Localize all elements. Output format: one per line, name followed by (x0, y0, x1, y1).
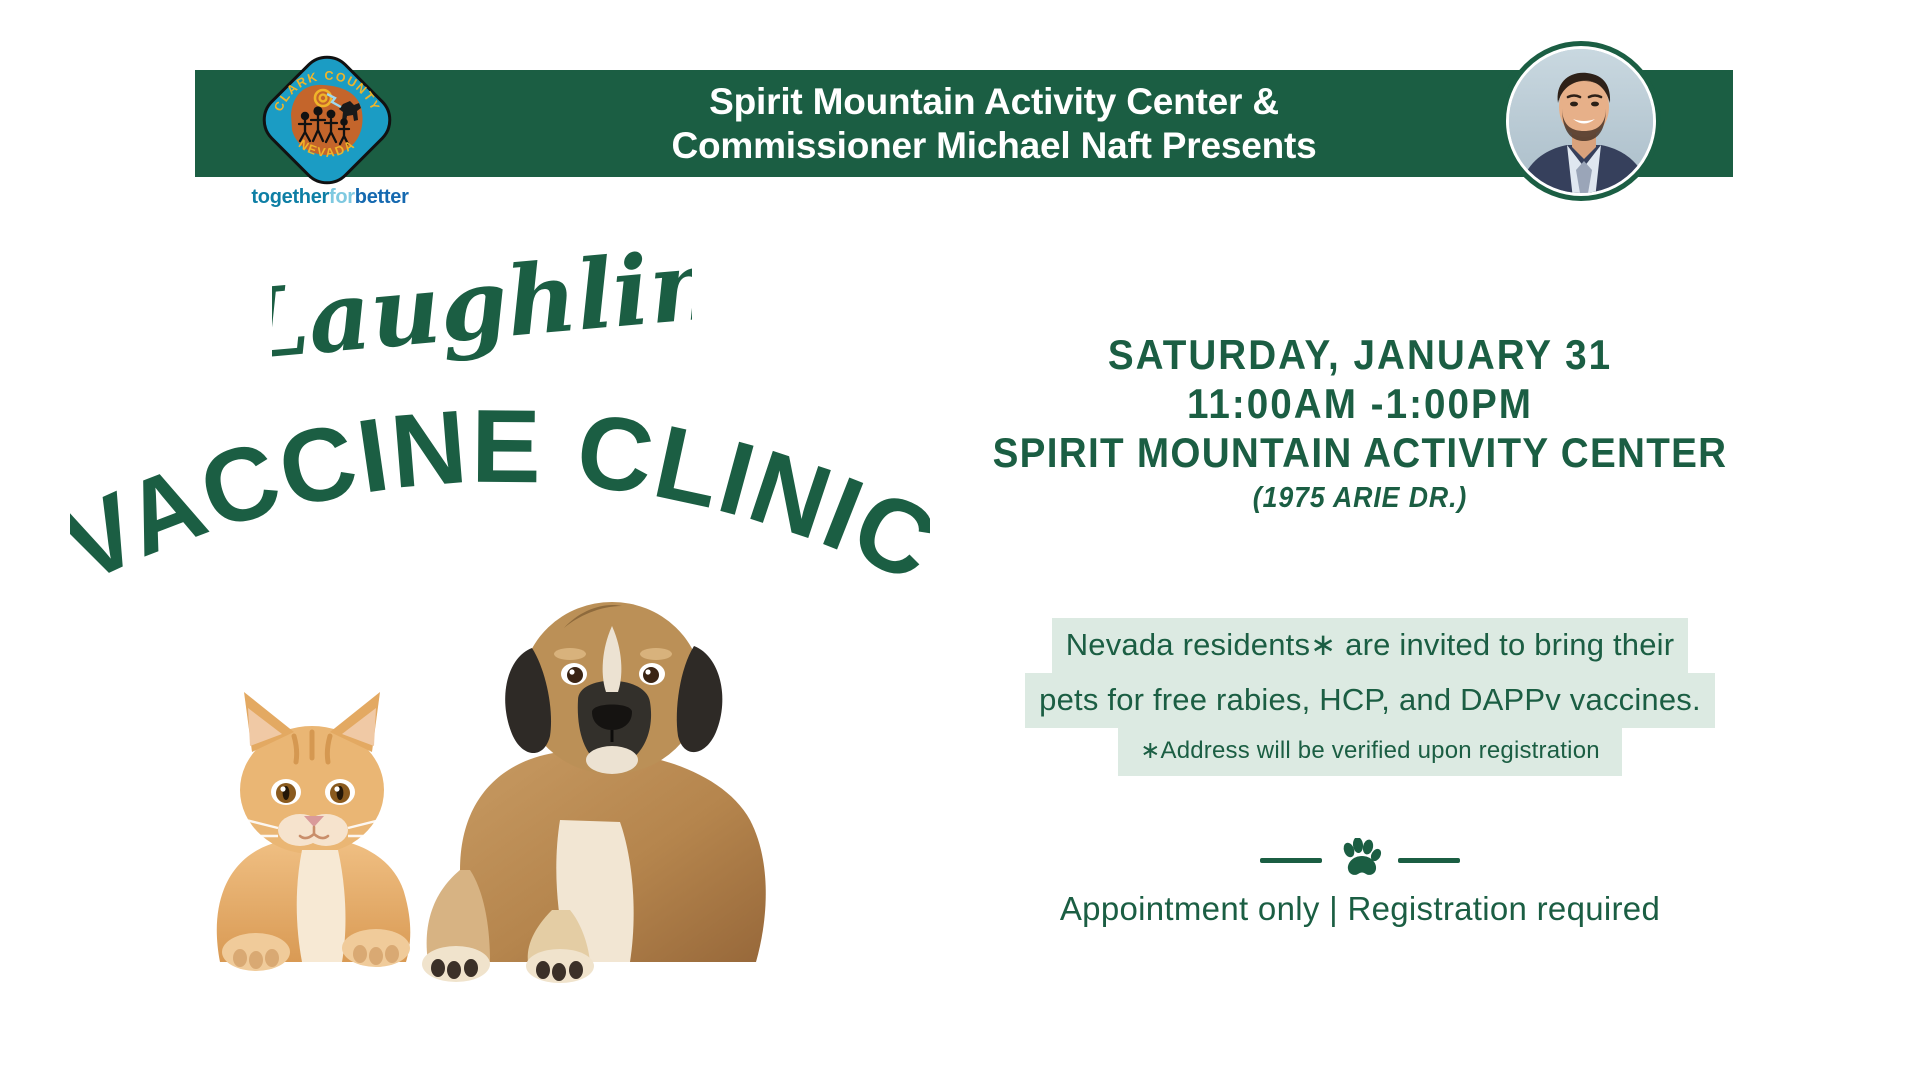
note-line-2: pets for free rabies, HCP, and DAPPv vac… (960, 673, 1780, 728)
event-venue: SPIRIT MOUNTAIN ACTIVITY CENTER (992, 428, 1728, 477)
together-for-better-tagline: togetherforbetter (245, 186, 415, 209)
svg-text:Laughlin: Laughlin (272, 248, 692, 368)
divider-rule-right (1398, 858, 1460, 863)
clark-county-seal-icon: CLARK COUNTY NEVADA (262, 48, 392, 188)
registration-note: Appointment only | Registration required (960, 890, 1760, 928)
paw-print-icon (1338, 838, 1382, 883)
event-address: (1975 ARIE DR.) (992, 482, 1728, 515)
event-date: SATURDAY, JANUARY 31 (992, 330, 1728, 379)
event-time: 11:00AM -1:00PM (992, 379, 1728, 428)
svg-text:VACCINE CLINIC: VACCINE CLINIC (70, 392, 930, 592)
event-details: SATURDAY, JANUARY 31 11:00AM -1:00PM SPI… (960, 330, 1760, 515)
tagline-part-for: for (329, 186, 355, 208)
cat-and-dog-photo (160, 570, 800, 990)
eligibility-note: Nevada residents∗ are invited to bring t… (960, 618, 1780, 776)
header-title: Spirit Mountain Activity Center & Commis… (671, 80, 1316, 167)
commissioner-headshot-avatar (1501, 41, 1661, 201)
note-footnote: ∗Address will be verified upon registrat… (960, 728, 1780, 776)
tagline-part-together: together (251, 186, 329, 208)
note-line-1: Nevada residents∗ are invited to bring t… (960, 618, 1780, 673)
divider-rule-left (1260, 858, 1322, 863)
paw-divider (960, 838, 1760, 883)
flyer-script-title: Laughlin (272, 248, 692, 368)
flyer-arched-title: VACCINE CLINIC (70, 392, 930, 592)
header-title-line-2: Commissioner Michael Naft Presents (671, 124, 1316, 168)
tagline-part-better: better (355, 186, 409, 208)
header-title-line-1: Spirit Mountain Activity Center & (671, 80, 1316, 124)
